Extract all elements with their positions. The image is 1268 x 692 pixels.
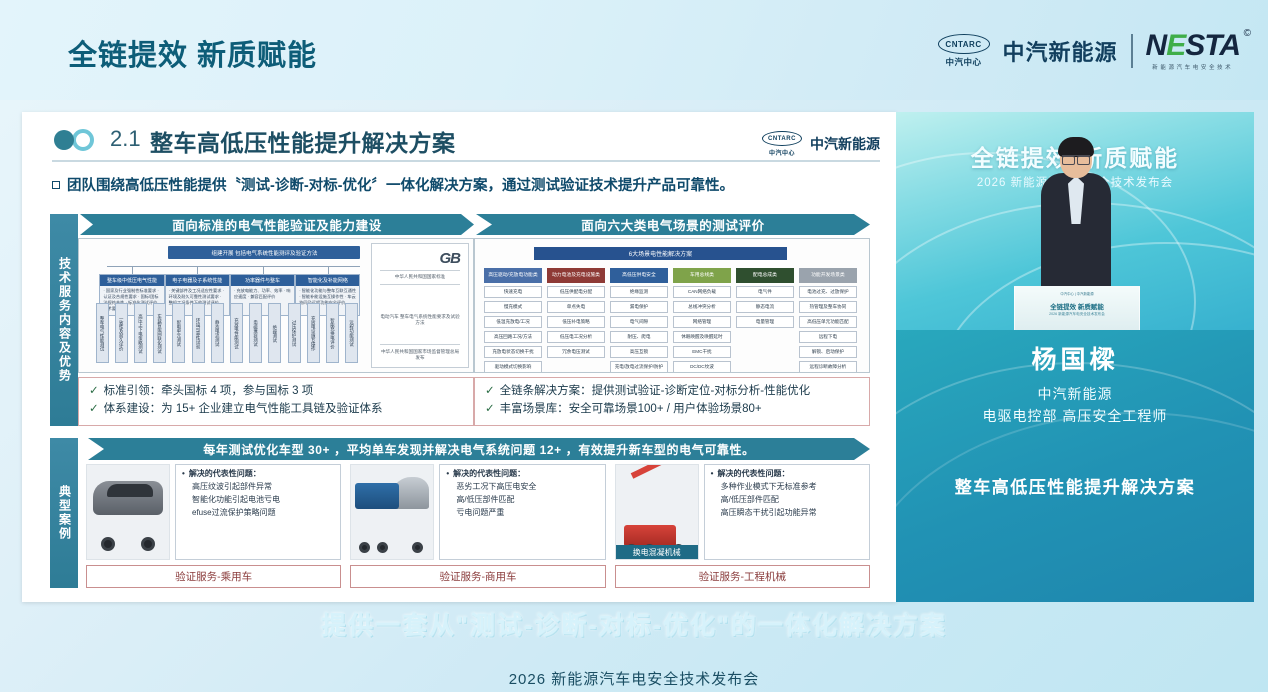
case-image-engineering-machinery: 换电混凝机械 [615, 464, 699, 560]
nesta-letters-sta: STA [1185, 29, 1240, 62]
scenario-cell: 低压供配电分配 [547, 286, 605, 298]
check-icon: ✓ [485, 403, 495, 415]
scenario-column: 功能开发场景类电池过充、过放保护热管理及整车协同高低压单元功能匹配远程下电解锁、… [799, 268, 857, 373]
scenario-column-header: 动力电池及充电设施类 [547, 268, 605, 283]
podium-title: 全链提效 新质赋能 [1015, 301, 1139, 311]
speaker-name: 杨国樑 [896, 340, 1254, 376]
scenario-column: 动力电池及充电设施类低压供配电分配单点失电低压补电策略低压电工况分析冗余电压测试 [547, 268, 605, 358]
nesta-letter-e: E [1166, 29, 1185, 62]
scenario-cell: 高压回路工况/方法 [484, 331, 542, 343]
diagram-root-node: 组建开展 包括电气系统性能测评及验证方法 [168, 246, 360, 259]
tick-text: 丰富场景库：安全可靠场景100+ / 用户体验场景80+ [500, 403, 762, 415]
case-item: 高/低压部件匹配 [446, 496, 598, 504]
diagram-leaf-node: 静态电流测试 [211, 303, 224, 363]
scenario-cell: 耐压、爬电 [610, 331, 668, 343]
scenario-cell: 高压互锁 [610, 346, 668, 358]
case-text-commercial: 解决的代表性问题： 恶劣工况下高压电安全 高/低压部件匹配 亏电问题严重 [439, 464, 605, 560]
scenario-column-header: 功能开发场景类 [799, 268, 857, 283]
case-item: 多种作业模式下无标准参考 [711, 483, 863, 491]
lead-bullet-text: 团队围绕高低压性能提供〝测试-诊断-对标-优化〞一体化解决方案，通过测试验证技术… [67, 178, 734, 194]
scenarios-root-node: 6大场景电性能解决方案 [534, 247, 787, 260]
case-image-caption: 换电混凝机械 [616, 545, 698, 559]
standards-diagram: 组建开展 包括电气系统性能测评及验证方法整车级中低压电气性能· 国家及行业强制性… [78, 238, 474, 373]
case-item: 高/低压部件匹配 [711, 496, 863, 504]
scenario-cell: 电气件 [736, 286, 794, 298]
cntarc-oval-label: CNTARC [938, 34, 990, 54]
slide-cntarc-oval-label: CNTARC [762, 131, 802, 146]
slide-brand-lockup: CNTARC 中汽中心 中汽新能源 [762, 131, 880, 157]
scenario-cell: 电池过充、过放保护 [799, 286, 857, 298]
band1-right-ticks: ✓全链条解决方案：提供测试验证-诊断定位-对标分析-性能优化 ✓丰富场景库：安全… [474, 377, 870, 426]
scenario-cell: 低压补电策略 [547, 316, 605, 328]
cntarc-sub-label: 中汽中心 [946, 56, 982, 68]
podium-logo: 中汽中心 | 中汽新能源 [1015, 291, 1139, 296]
tick-item: ✓标准引领：牵头国标 4 项，参与国标 3 项 [89, 383, 463, 401]
case-text-machinery: 解决的代表性问题： 多种作业模式下无标准参考 高/低压部件匹配 高压瞬态干扰引起… [704, 464, 870, 560]
scenario-column: 车用总线类CAN网络负载总线冲突分析网络管理休眠唤醒及唤醒延时EMC干扰DC/D… [673, 268, 731, 373]
diagram-category-title: 功率器件与整车 [231, 275, 294, 286]
cntarc-logo: CNTARC 中汽中心 [938, 34, 990, 68]
section-number: 2.1 [110, 126, 141, 152]
case-card-commercial: 解决的代表性问题： 恶劣工况下高压电安全 高/低压部件匹配 亏电问题严重 验证服… [350, 464, 605, 588]
diagram-category-body: · 充放电能力、功率、效率 · 响应速度 · 兼容匹配评价 [231, 286, 294, 302]
slide-canvas: 2.1 整车高低压性能提升解决方案 CNTARC 中汽中心 中汽新能源 团队围绕… [22, 112, 896, 602]
gb-standard-document: GB 中华人民共和国国家标准 电动汽车 整车电气系统性能要求及试验方法 中华人民… [371, 243, 469, 368]
check-icon: ✓ [89, 385, 99, 397]
section-marker-icon [54, 129, 94, 151]
case-footer-machinery: 验证服务-工程机械 [615, 565, 870, 588]
band2-content: 每年测试优化车型 30+ ，平均单车发现并解决电气系统问题 12+ ，有效提升新… [86, 438, 870, 588]
diagram-category-title: 电子电器及子系统性能 [166, 275, 229, 286]
case-item: 高压瞬态干扰引起功能异常 [711, 509, 863, 517]
diagram-leaf-node: 充放电性能测试 [230, 303, 243, 363]
speaker-figure [1046, 140, 1106, 300]
nesta-letter-n: N [1146, 29, 1167, 62]
diagram-leaf-node: 电磁兼容测试 [249, 303, 262, 363]
scenario-cell: 充电/放电过流保护/防护 [610, 361, 668, 373]
case-heading: 解决的代表性问题： [446, 470, 598, 478]
event-footnote: 2026 新能源汽车电安全技术发布会 [0, 668, 1268, 689]
scenario-cell: 远程诊断故障分析 [799, 361, 857, 373]
speaker-org: 中汽新能源 [896, 384, 1254, 404]
check-icon: ✓ [89, 403, 99, 415]
speaker-role: 电驱电控部 高压安全工程师 [896, 406, 1254, 426]
diagram-leaf-node: 绝缘测试 [268, 303, 281, 363]
nesta-subtitle: 新能源汽车电安全技术 [1152, 63, 1233, 71]
scenario-cell: 总线冲突分析 [673, 301, 731, 313]
band1-left-ticks: ✓标准引领：牵头国标 4 项，参与国标 3 项 ✓体系建设：为 15+ 企业建立… [78, 377, 474, 426]
scenario-cell: 慢充模式 [484, 301, 542, 313]
band1-right-chevron-title: 面向六大类电气场景的测试评价 [476, 214, 870, 235]
kicker-statement: 提供一套从"测试-诊断-对标-优化"的一体化解决方案 [0, 606, 1268, 642]
scenario-cell: 高低压单元功能匹配 [799, 316, 857, 328]
scenario-column-header: 高压驱动/充放电功能类 [484, 268, 542, 283]
case-item: 亏电问题严重 [446, 509, 598, 517]
tick-item: ✓体系建设：为 15+ 企业建立电气性能工具链及验证体系 [89, 401, 463, 419]
speaker-video-panel[interactable]: 全链提效 新质赋能 2026 新能源汽车电安全技术发布会 中汽中心 | 中汽新能… [896, 112, 1254, 602]
section-title: 整车高低压性能提升解决方案 [150, 124, 456, 158]
diagram-leaf-node: 车载智能网联化测试 [153, 303, 166, 363]
band2-chevron-title: 每年测试优化车型 30+ ，平均单车发现并解决电气系统问题 12+ ，有效提升新… [88, 438, 870, 460]
diagram-leaf-node: 高压上下电策略测试 [134, 303, 147, 363]
case-card-machinery: 换电混凝机械 解决的代表性问题： 多种作业模式下无标准参考 高/低压部件匹配 高… [615, 464, 870, 588]
case-text-passenger: 解决的代表性问题： 高压纹波引起部件异常 智能化功能引起电池亏电 efuse过流… [175, 464, 341, 560]
diagram-leaf-node: 充放电设施互操作 [307, 303, 320, 363]
band1-right-column: 面向六大类电气场景的测试评价 6大场景电性能解决方案 高压驱动/充放电功能类快速… [474, 214, 870, 426]
band1-left-column: 面向标准的电气性能验证及能力建设 组建开展 包括电气系统性能测评及验证方法整车级… [78, 214, 474, 426]
lead-bullet: 团队围绕高低压性能提供〝测试-诊断-对标-优化〞一体化解决方案，通过测试验证技术… [52, 174, 884, 195]
case-footer-commercial: 验证服务-商用车 [350, 565, 605, 588]
scenario-column-header: 车用总线类 [673, 268, 731, 283]
scenario-cell: 解锁、启动保护 [799, 346, 857, 358]
brand-lockup: CNTARC 中汽中心 中汽新能源 NESTA © 新能源汽车电安全技术 [938, 28, 1240, 74]
scenario-cell: 充放电状态切换干扰 [484, 346, 542, 358]
case-list: 解决的代表性问题： 高压纹波引起部件异常 智能化功能引起电池亏电 efuse过流… [86, 464, 870, 588]
gb-doc-line2: 电动汽车 整车电气系统性能要求及试验方法 [380, 314, 460, 326]
diagram-leaf-node: 配电单元测试 [172, 303, 185, 363]
scenario-cell: 电气间隙 [610, 316, 668, 328]
scenario-cell: DC/DC纹波 [673, 361, 731, 373]
brand-divider [1131, 34, 1133, 68]
tick-text: 体系建设：为 15+ 企业建立电气性能工具链及验证体系 [104, 403, 383, 415]
case-item: efuse过流保护策略问题 [182, 509, 334, 517]
scenario-cell: 电量管理 [736, 316, 794, 328]
tick-text: 标准引领：牵头国标 4 项，参与国标 3 项 [104, 385, 314, 397]
scenario-column: 高压驱动/充放电功能类快速充电慢充模式低温充放电/工况高压回路工况/方法充放电状… [484, 268, 542, 373]
band1-left-chevron-title: 面向标准的电气性能验证及能力建设 [80, 214, 474, 235]
gb-doc-footer: 中华人民共和国国家市场监督管理总局 发布 [380, 349, 460, 361]
band-typical-cases: 典型案例 每年测试优化车型 30+ ，平均单车发现并解决电气系统问题 12+ ，… [50, 438, 870, 588]
scenario-column-header: 配电总成类 [736, 268, 794, 283]
gb-doc-line1: 中华人民共和国国家标准 [380, 274, 460, 280]
band1-side-label: 技术服务内容及优势 [50, 214, 78, 426]
brand-name-cn: 中汽新能源 [1003, 35, 1118, 67]
glasses-icon [1062, 155, 1090, 162]
case-image-passenger-car [86, 464, 170, 560]
scenario-cell: 休眠唤醒及唤醒延时 [673, 331, 731, 343]
scenario-column-header: 高低压供电安全 [610, 268, 668, 283]
slide-cntarc-logo: CNTARC 中汽中心 [762, 131, 802, 157]
header-rule [52, 160, 880, 162]
diagram-leaf-node: 环境可靠性试验 [192, 303, 205, 363]
bullet-square-icon [52, 181, 60, 189]
nesta-wordmark: NESTA [1146, 31, 1240, 61]
deck-title: 全链提效 新质赋能 [68, 32, 317, 74]
podium-subtitle: 2026 新能源汽车电安全技术发布会 [1015, 312, 1139, 317]
check-icon: ✓ [485, 385, 495, 397]
scenario-cell: EMC干扰 [673, 346, 731, 358]
podium-panel: 中汽中心 | 中汽新能源 全链提效 新质赋能 2026 新能源汽车电安全技术发布… [1014, 286, 1140, 330]
case-item: 高压纹波引起部件异常 [182, 483, 334, 491]
case-item: 恶劣工况下高压电安全 [446, 483, 598, 491]
band-technical-services: 技术服务内容及优势 面向标准的电气性能验证及能力建设 组建开展 包括电气系统性能… [50, 214, 870, 426]
scenario-column: 配电总成类电气件静态电流电量管理 [736, 268, 794, 328]
diagram-category-title: 整车级中低压电气性能 [100, 275, 163, 286]
diagram-leaf-node: 整车电气性能测试 [96, 303, 109, 363]
diagram-category-title: 智能化及补能网络 [296, 275, 359, 286]
scenarios-diagram: 6大场景电性能解决方案 高压驱动/充放电功能类快速充电慢充模式低温充放电/工况高… [474, 238, 870, 373]
diagram-leaf-node: 过压保护测试 [288, 303, 301, 363]
scenario-column: 高低压供电安全绝缘监测漏电保护电气间隙耐压、爬电高压互锁充电/放电过流保护/防护… [610, 268, 668, 373]
tick-item: ✓丰富场景库：安全可靠场景100+ / 用户体验场景80+ [485, 401, 859, 419]
scenario-cell: 冗余电压测试 [547, 346, 605, 358]
diagram-leaf-node: 智能充换电评价 [326, 303, 339, 363]
scenario-cell: 低压电工况分析 [547, 331, 605, 343]
scenario-cell: 驱动模式切换影响 [484, 361, 542, 373]
copyright-icon: © [1244, 28, 1251, 39]
stage-backdrop: 全链提效 新质赋能 2026 新能源汽车电安全技术发布会 中汽中心 | 中汽新能… [896, 112, 1254, 330]
scenarios-diagram-body: 6大场景电性能解决方案 高压驱动/充放电功能类快速充电慢充模式低温充放电/工况高… [480, 244, 864, 367]
scenario-cell: 单点失电 [547, 301, 605, 313]
scenario-cell: 热管理及整车协同 [799, 301, 857, 313]
scenario-cell: CAN网络负载 [673, 286, 731, 298]
case-footer-passenger: 验证服务-乘用车 [86, 565, 341, 588]
gb-mark: GB [440, 250, 461, 267]
scenario-cell: 网络管理 [673, 316, 731, 328]
tick-text: 全链条解决方案：提供测试验证-诊断定位-对标分析-性能优化 [500, 385, 811, 397]
scenario-cell: 低温充放电/工况 [484, 316, 542, 328]
slide-cntarc-sub-label: 中汽中心 [769, 148, 795, 157]
band2-side-label: 典型案例 [50, 438, 78, 588]
diagram-leaf-node: 一致性及耐久评价 [115, 303, 128, 363]
case-card-passenger: 解决的代表性问题： 高压纹波引起部件异常 智能化功能引起电池亏电 efuse过流… [86, 464, 341, 588]
case-item: 智能化功能引起电池亏电 [182, 496, 334, 504]
slide-brand-name: 中汽新能源 [810, 134, 880, 154]
scenario-cell: 静态电流 [736, 301, 794, 313]
scenario-cell: 绝缘监测 [610, 286, 668, 298]
nesta-logo: NESTA © 新能源汽车电安全技术 [1146, 31, 1240, 71]
case-heading: 解决的代表性问题： [182, 470, 334, 478]
scenario-cell: 远程下电 [799, 331, 857, 343]
top-header-bar: 全链提效 新质赋能 CNTARC 中汽中心 中汽新能源 NESTA © 新能源汽… [0, 0, 1268, 100]
speaker-topic: 整车高低压性能提升解决方案 [896, 473, 1254, 498]
diagram-leaf-node: 远程功能测试 [345, 303, 358, 363]
scenario-cell: 快速充电 [484, 286, 542, 298]
case-image-commercial-truck [350, 464, 434, 560]
slide-header: 2.1 整车高低压性能提升解决方案 CNTARC 中汽中心 中汽新能源 [22, 112, 896, 168]
case-heading: 解决的代表性问题： [711, 470, 863, 478]
tick-item: ✓全链条解决方案：提供测试验证-诊断定位-对标分析-性能优化 [485, 383, 859, 401]
scenario-cell: 漏电保护 [610, 301, 668, 313]
